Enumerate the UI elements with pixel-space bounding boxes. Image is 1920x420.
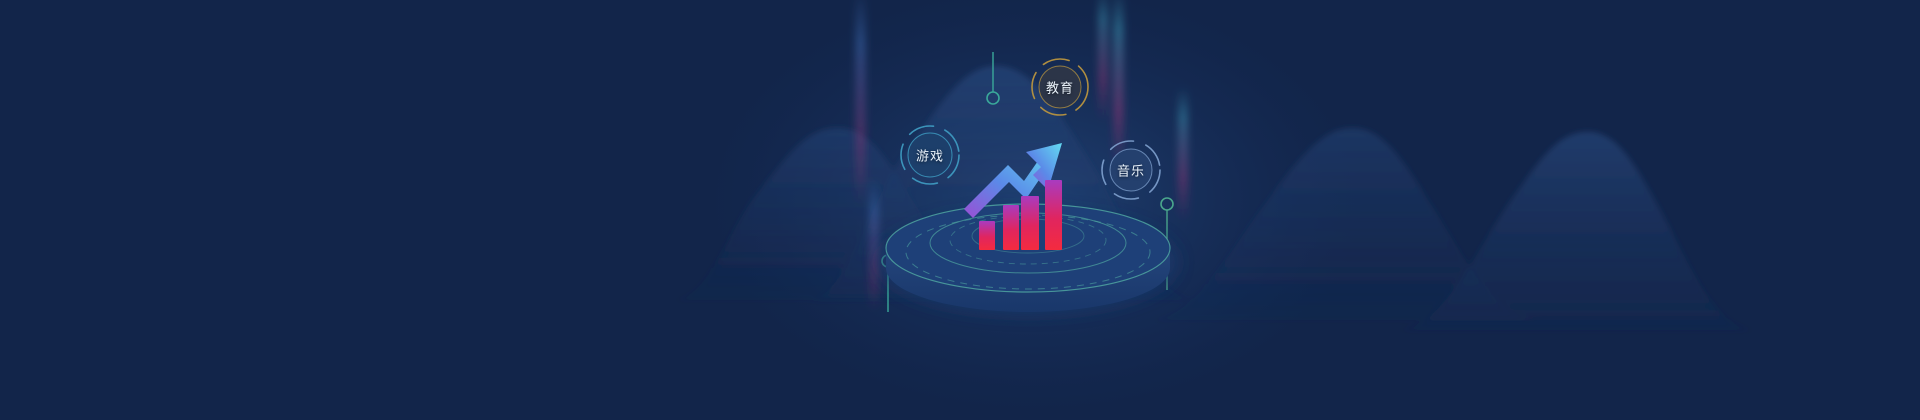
- light-beam: [1180, 88, 1186, 220]
- light-beam: [871, 178, 877, 310]
- light-beam: [857, 0, 864, 205]
- bar-3: [1021, 196, 1039, 250]
- analytics-hero-banner: 游戏 教育 音乐: [0, 0, 1920, 420]
- banner-illustration: [0, 0, 1920, 420]
- light-beam: [1100, 0, 1106, 120]
- bar-1: [979, 221, 995, 250]
- bar-4: [1045, 180, 1062, 250]
- bar-2: [1003, 205, 1019, 250]
